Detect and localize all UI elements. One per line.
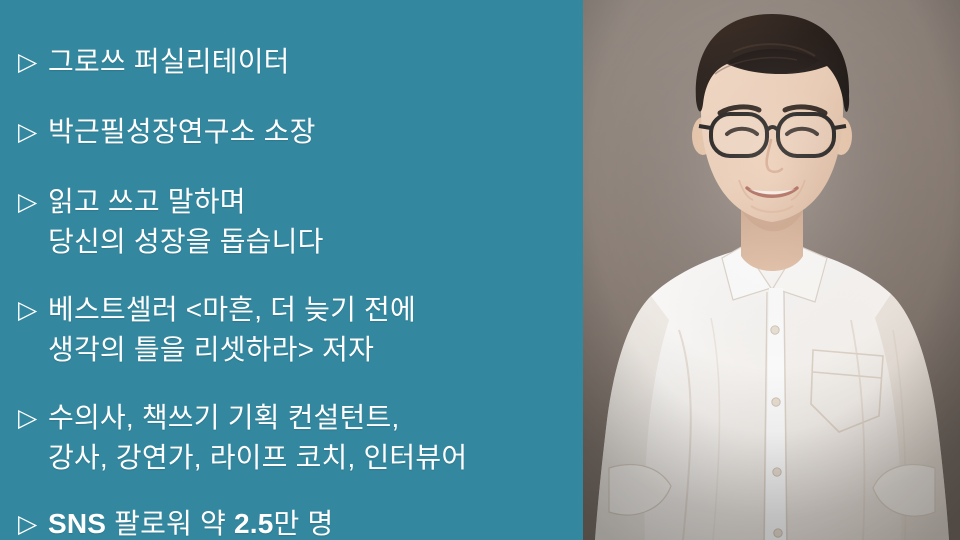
portrait-photo [583, 0, 960, 540]
list-item: ▷ 그로쓰 퍼실리테이터 [0, 42, 583, 82]
text-segment: 팔로워 약 [106, 508, 234, 539]
triangle-bullet-icon: ▷ [18, 42, 48, 82]
text-panel: ▷ 그로쓰 퍼실리테이터 ▷ 박근필성장연구소 소장 ▷ 읽고 쓰고 말하며 당… [0, 0, 583, 540]
triangle-bullet-icon: ▷ [18, 182, 48, 222]
list-item: ▷ 박근필성장연구소 소장 [0, 112, 583, 152]
bold-text-segment: SNS [48, 508, 106, 539]
triangle-bullet-icon: ▷ [18, 112, 48, 152]
bullet-text: 베스트셀러 <마흔, 더 늦기 전에 생각의 틀을 리셋하라> 저자 [48, 290, 583, 370]
list-item: ▷ 읽고 쓰고 말하며 당신의 성장을 돕습니다 [0, 182, 583, 262]
photo-vignette [583, 0, 960, 540]
triangle-bullet-icon: ▷ [18, 398, 48, 438]
bold-text-segment: 2.5 [234, 508, 274, 539]
list-item: ▷ 베스트셀러 <마흔, 더 늦기 전에 생각의 틀을 리셋하라> 저자 [0, 290, 583, 370]
portrait-illustration [583, 0, 960, 540]
bullet-text: 수의사, 책쓰기 기획 컨설턴트, 강사, 강연가, 라이프 코치, 인터뷰어 [48, 398, 583, 478]
bullet-text: 박근필성장연구소 소장 [48, 112, 583, 152]
bullet-text: 그로쓰 퍼실리테이터 [48, 42, 583, 82]
triangle-bullet-icon: ▷ [18, 290, 48, 330]
text-segment: 만 명 [274, 508, 334, 539]
bullet-text-sns: SNS 팔로워 약 2.5만 명 [48, 504, 583, 540]
list-item: ▷ 수의사, 책쓰기 기획 컨설턴트, 강사, 강연가, 라이프 코치, 인터뷰… [0, 398, 583, 478]
triangle-bullet-icon: ▷ [18, 504, 48, 540]
bullet-text: 읽고 쓰고 말하며 당신의 성장을 돕습니다 [48, 182, 583, 262]
profile-slide: ▷ 그로쓰 퍼실리테이터 ▷ 박근필성장연구소 소장 ▷ 읽고 쓰고 말하며 당… [0, 0, 960, 540]
bullet-list: ▷ 그로쓰 퍼실리테이터 ▷ 박근필성장연구소 소장 ▷ 읽고 쓰고 말하며 당… [0, 34, 583, 540]
list-item: ▷ SNS 팔로워 약 2.5만 명 [0, 504, 583, 540]
